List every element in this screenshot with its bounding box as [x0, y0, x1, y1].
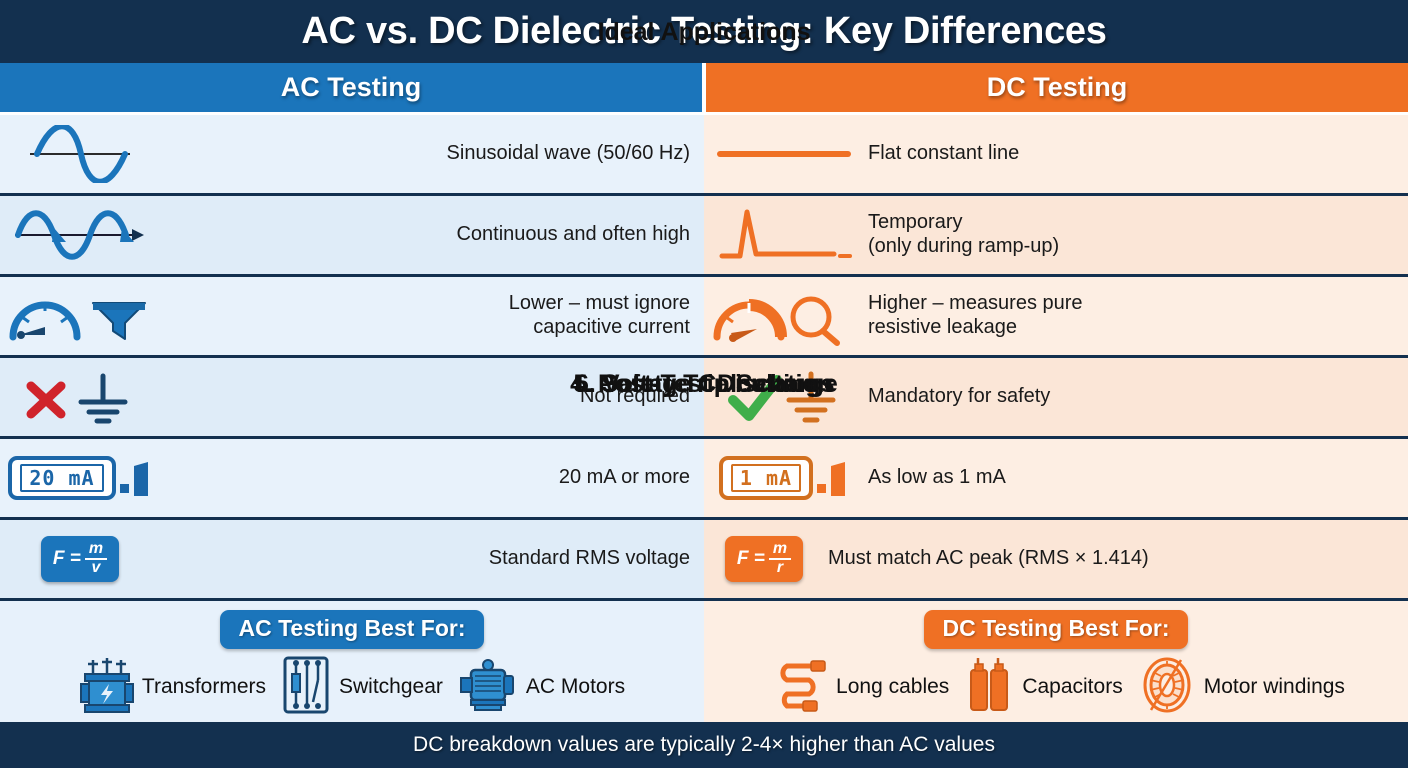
- applications-dc-panel: DC Testing Best For: Long cables: [704, 601, 1408, 733]
- ac-formula-numerator: m: [85, 541, 107, 560]
- column-header-ac-label: AC Testing: [281, 72, 422, 103]
- sine-wave-icon: [0, 125, 160, 183]
- applications-title: Ideal Applications: [597, 18, 810, 47]
- application-label: AC Motors: [526, 675, 625, 699]
- sine-wave-arrow-icon: [0, 204, 160, 266]
- dc-formula-denominator: r: [773, 560, 787, 577]
- flat-line-icon: [704, 139, 864, 169]
- row-1-ac-text-wrap: Sinusoidal wave (50/60 Hz): [160, 142, 704, 166]
- list-item: Motor windings: [1137, 654, 1345, 721]
- list-item: Long cables: [767, 654, 949, 721]
- row-4-ac-cell: Not required: [0, 358, 704, 436]
- table-row: Continuous and often high Temporary (onl…: [0, 196, 1408, 274]
- row-1-dc-text-wrap: Flat constant line: [864, 142, 1408, 166]
- dc-best-for-badge: DC Testing Best For:: [924, 610, 1187, 649]
- row-6-dc-text-wrap: Must match AC peak (RMS × 1.414): [824, 547, 1408, 571]
- list-item: Capacitors: [963, 654, 1122, 721]
- row-5-dc-text: As low as 1 mA: [868, 466, 1012, 490]
- row-4-dc-cell: Mandatory for safety: [704, 358, 1408, 436]
- infographic-page: AC vs. DC Dielectric Testing: Key Differ…: [0, 0, 1408, 768]
- formula-badge-icon: F = m r: [704, 536, 824, 582]
- row-2-dc-text: Temporary (only during ramp-up): [868, 211, 1065, 258]
- row-4-dc-text: Mandatory for safety: [868, 385, 1056, 409]
- row-2-dc-cell: Temporary (only during ramp-up): [704, 196, 1408, 274]
- column-header-ac: AC Testing: [0, 63, 702, 112]
- motor-winding-icon: [1137, 654, 1197, 721]
- row-5-ac-text: 20 mA or more: [559, 466, 696, 490]
- column-header-dc: DC Testing: [706, 63, 1408, 112]
- table-row: Sinusoidal wave (50/60 Hz) Flat constant…: [0, 115, 1408, 193]
- row-6-ac-text-wrap: Standard RMS voltage: [160, 547, 704, 571]
- row-5-ac-text-wrap: 20 mA or more: [160, 466, 704, 490]
- application-label: Switchgear: [339, 675, 443, 699]
- gauge-magnifier-icon: [704, 285, 864, 347]
- row-4-ac-text: Not required: [580, 385, 696, 409]
- row-3-dc-text: Higher – measures pure resistive leakage: [868, 292, 1089, 339]
- transformer-icon: [79, 654, 135, 721]
- check-ground-icon: [704, 366, 864, 428]
- ac-formula-denominator: v: [88, 560, 105, 577]
- application-label: Capacitors: [1022, 675, 1122, 699]
- applications-ac-panel: AC Testing Best For:: [0, 601, 704, 733]
- column-headers: AC Testing DC Testing: [0, 63, 1408, 115]
- footer-bar: DC breakdown values are typically 2-4× h…: [0, 722, 1408, 768]
- row-3-dc-text-wrap: Higher – measures pure resistive leakage: [864, 292, 1408, 339]
- capacitor-icon: [963, 654, 1015, 721]
- gauge-funnel-icon: [0, 285, 160, 347]
- table-row: 20 mA 20 mA or more: [0, 439, 1408, 517]
- application-label: Motor windings: [1204, 675, 1345, 699]
- ac-application-items: Transformers: [0, 649, 704, 725]
- switchgear-icon: [280, 654, 332, 721]
- row-2-ac-text-wrap: Continuous and often high: [160, 223, 704, 247]
- formula-badge-icon: F = m v: [0, 536, 160, 582]
- footer-note: DC breakdown values are typically 2-4× h…: [413, 733, 995, 757]
- cable-coil-icon: [767, 654, 829, 721]
- dc-trip-display-value: 1 mA: [740, 466, 792, 490]
- motor-icon: [457, 654, 519, 721]
- row-5-dc-cell: 1 mA As low as 1 mA: [704, 439, 1408, 517]
- dc-formula-numerator: m: [769, 541, 791, 560]
- row-5-dc-text-wrap: As low as 1 mA: [864, 466, 1408, 490]
- list-item: Switchgear: [280, 654, 443, 721]
- row-1-ac-cell: Sinusoidal wave (50/60 Hz): [0, 115, 704, 193]
- list-item: Transformers: [79, 654, 266, 721]
- row-6-dc-cell: F = m r Must match AC peak (RMS × 1.414): [704, 520, 1408, 598]
- application-label: Long cables: [836, 675, 949, 699]
- meter-display-icon: 1 mA: [704, 456, 864, 500]
- row-3-ac-text-wrap: Lower – must ignore capacitive current: [160, 292, 704, 339]
- table-row: Lower – must ignore capacitive current: [0, 277, 1408, 355]
- dc-application-items: Long cables: [704, 649, 1408, 725]
- row-6-dc-text: Must match AC peak (RMS × 1.414): [828, 547, 1155, 571]
- row-3-ac-text: Lower – must ignore capacitive current: [509, 292, 696, 339]
- row-4-dc-text-wrap: Mandatory for safety: [864, 385, 1408, 409]
- row-2-ac-cell: Continuous and often high: [0, 196, 704, 274]
- row-5-ac-cell: 20 mA 20 mA or more: [0, 439, 704, 517]
- table-row: Not required: [0, 358, 1408, 436]
- row-6-ac-cell: F = m v Standard RMS voltage: [0, 520, 704, 598]
- ideal-applications-section: AC Testing Best For:: [0, 601, 1408, 733]
- meter-display-icon: 20 mA: [0, 456, 160, 500]
- row-2-dc-text-wrap: Temporary (only during ramp-up): [864, 211, 1408, 258]
- row-2-ac-text: Continuous and often high: [456, 223, 696, 247]
- row-1-dc-cell: Flat constant line: [704, 115, 1408, 193]
- row-1-dc-text: Flat constant line: [868, 142, 1025, 166]
- dc-formula-lhs: F =: [737, 548, 765, 570]
- list-item: AC Motors: [457, 654, 625, 721]
- row-4-ac-text-wrap: Not required: [160, 385, 704, 409]
- ac-best-for-badge: AC Testing Best For:: [220, 610, 483, 649]
- row-1-ac-text: Sinusoidal wave (50/60 Hz): [447, 142, 696, 166]
- row-3-ac-cell: Lower – must ignore capacitive current: [0, 277, 704, 355]
- column-header-dc-label: DC Testing: [987, 72, 1128, 103]
- table-row: F = m v Standard RMS voltage: [0, 520, 1408, 598]
- ac-formula-lhs: F =: [53, 548, 81, 570]
- row-3-dc-cell: Higher – measures pure resistive leakage: [704, 277, 1408, 355]
- cross-ground-icon: [0, 366, 160, 428]
- ac-trip-display-value: 20 mA: [29, 466, 94, 490]
- comparison-rows: Sinusoidal wave (50/60 Hz) Flat constant…: [0, 115, 1408, 733]
- application-label: Transformers: [142, 675, 266, 699]
- spike-pulse-icon: [704, 204, 864, 266]
- row-6-ac-text: Standard RMS voltage: [489, 547, 696, 571]
